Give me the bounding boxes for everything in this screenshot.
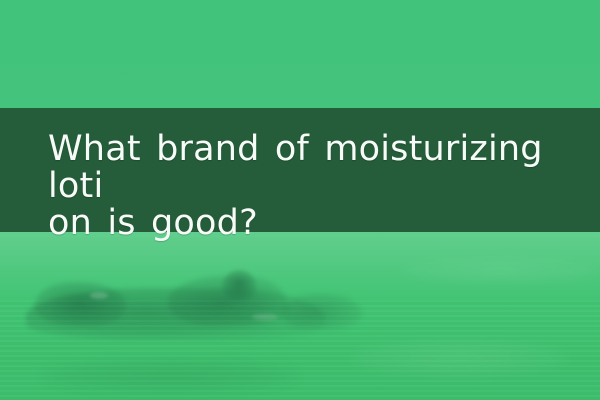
machinery-highlight-left [90, 292, 108, 299]
field-light-patch [400, 256, 600, 286]
question-image-card: What brand of moisturizing loti on is go… [0, 0, 600, 400]
ground-shadow-patch [40, 358, 300, 392]
ground-light-patch [350, 338, 570, 378]
field-machinery-upright [222, 270, 256, 300]
caption-question-text: What brand of moisturizing loti on is go… [48, 131, 580, 242]
